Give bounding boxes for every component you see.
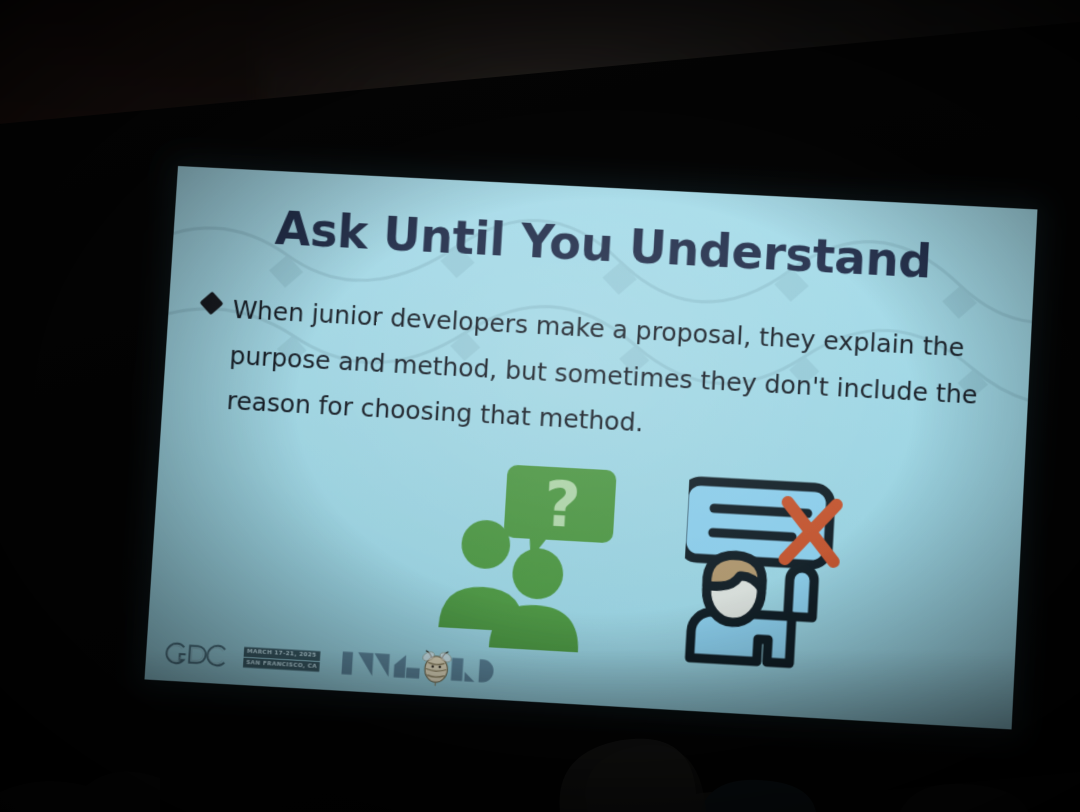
- bullet-list: When junior developers make a proposal, …: [195, 285, 990, 464]
- slide-title: Ask Until You Understand: [173, 196, 1036, 294]
- projection-screen: Ask Until You Understand When junior dev…: [144, 166, 1037, 729]
- projection-area: Ask Until You Understand When junior dev…: [0, 0, 1080, 812]
- diamond-bullet-icon: [200, 291, 224, 315]
- gdc-logo: [163, 637, 233, 671]
- question-mark-glyph: ?: [542, 467, 583, 543]
- hair-shape: [707, 554, 764, 589]
- bee-icon: [420, 650, 454, 687]
- raised-hand-no-answer-icon: [679, 474, 852, 671]
- slide: Ask Until You Understand When junior dev…: [144, 166, 1037, 729]
- two-people-question-icon: ?: [434, 457, 617, 654]
- inworld-logo: [339, 644, 495, 689]
- gdc-date-block: MARCH 17-21, 2025 SAN FRANCISCO, CA: [243, 646, 321, 671]
- bullet-item-text: When junior developers make a proposal, …: [225, 287, 990, 465]
